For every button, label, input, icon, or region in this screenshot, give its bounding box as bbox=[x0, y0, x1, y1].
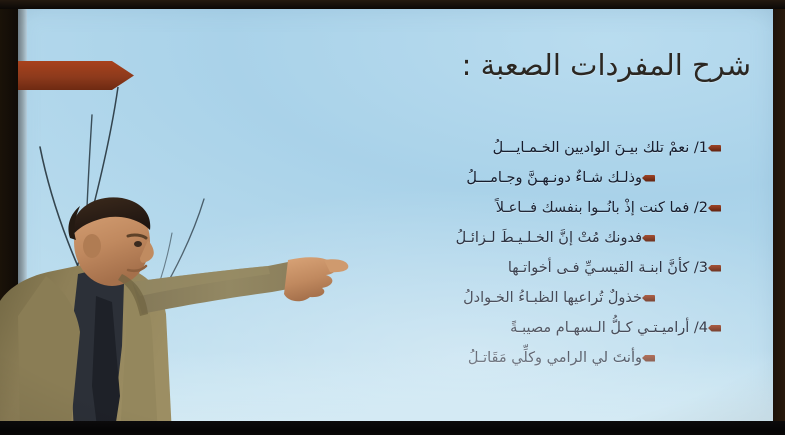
bullet-arrow-icon bbox=[642, 175, 655, 182]
bullet-arrow-icon bbox=[642, 235, 655, 242]
bullet-arrow-icon bbox=[708, 265, 721, 272]
verse-line: 1/ نعمْ تلك بيـنَ الواديين الخـمـايـــلُ bbox=[255, 133, 755, 163]
verse-line: 4/ أراميـتـي كـلُّ الـسهـام مصيبـةً bbox=[255, 313, 755, 343]
verse-text: 1/ نعمْ تلك بيـنَ الواديين الخـمـايـــلُ bbox=[493, 140, 708, 156]
verse-text: وذلـك شـاءٌ دونـهـنَّ وجـامـــلُ bbox=[466, 170, 642, 186]
bullet-arrow-icon bbox=[642, 295, 655, 302]
verse-line: خذولٌ تُراعيها الظبـاءُ الخـوادلُ bbox=[255, 283, 755, 313]
bullet-arrow-icon bbox=[708, 325, 721, 332]
verse-line: 2/ فما كنت إذْ بانُــوا بنفسك فــاعـلاً bbox=[255, 193, 755, 223]
tv-bezel-bottom bbox=[0, 421, 785, 435]
grass-blades-icon bbox=[22, 87, 212, 407]
verse-list: 1/ نعمْ تلك بيـنَ الواديين الخـمـايـــلُ… bbox=[255, 133, 755, 373]
verse-line: فدونك مُتْ إنَّ الخـلـيـطَ لـزائـلُ bbox=[255, 223, 755, 253]
bullet-arrow-icon bbox=[708, 205, 721, 212]
bullet-arrow-icon bbox=[642, 355, 655, 362]
verse-text: خذولٌ تُراعيها الظبـاءُ الخـوادلُ bbox=[463, 290, 642, 306]
verse-line: وأنتَ لي الرامي وكلِّي مَقَاتـلُ bbox=[255, 343, 755, 373]
verse-text: فدونك مُتْ إنَّ الخـلـيـطَ لـزائـلُ bbox=[456, 230, 642, 246]
verse-text: 3/ كأنَّ ابنـة القيسـيِّ فـى أخواتـها bbox=[508, 260, 708, 276]
tv-bezel-top bbox=[0, 0, 785, 9]
bullet-arrow-icon bbox=[708, 145, 721, 152]
verse-text: 2/ فما كنت إذْ بانُــوا بنفسك فــاعـلاً bbox=[496, 200, 708, 216]
slide-title: شرح المفردات الصعبة : bbox=[281, 47, 751, 83]
screenshot-stage: شرح المفردات الصعبة : 1/ نعمْ تلك بيـنَ … bbox=[0, 0, 785, 435]
verse-line: وذلـك شـاءٌ دونـهـنَّ وجـامـــلُ bbox=[255, 163, 755, 193]
verse-line: 3/ كأنَّ ابنـة القيسـيِّ فـى أخواتـها bbox=[255, 253, 755, 283]
presentation-screen: شرح المفردات الصعبة : 1/ نعمْ تلك بيـنَ … bbox=[18, 9, 773, 421]
verse-text: وأنتَ لي الرامي وكلِّي مَقَاتـلُ bbox=[468, 350, 642, 366]
verse-text: 4/ أراميـتـي كـلُّ الـسهـام مصيبـةً bbox=[510, 320, 708, 336]
